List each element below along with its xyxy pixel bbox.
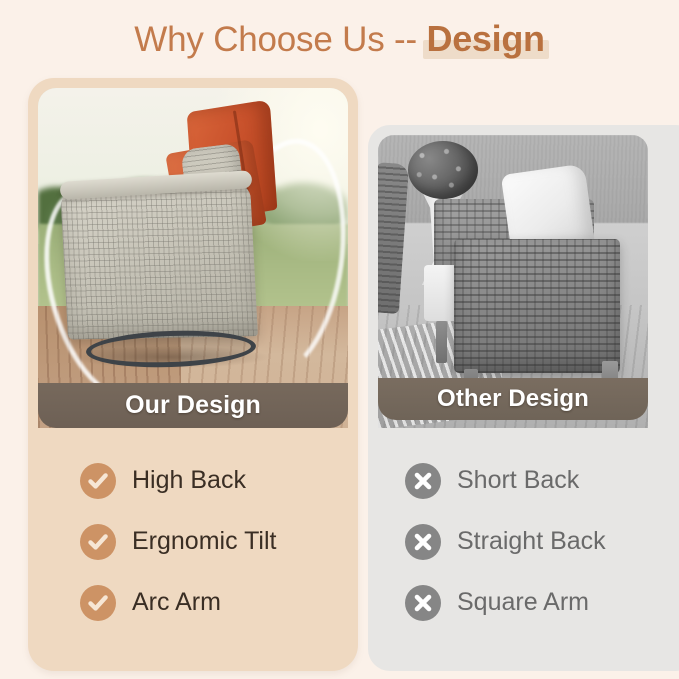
chair-leg-rear — [436, 321, 447, 363]
our-design-card: Our Design High Back Ergnomic Tilt — [28, 78, 358, 671]
cross-icon — [405, 463, 441, 499]
our-design-label: Our Design — [38, 383, 348, 428]
check-icon — [80, 585, 116, 621]
list-item: Square Arm — [368, 572, 679, 633]
list-item-label: Short Back — [457, 466, 579, 495]
check-icon — [80, 524, 116, 560]
list-item-label: Arc Arm — [132, 588, 221, 617]
other-design-label: Other Design — [378, 378, 648, 420]
list-item: Ergnomic Tilt — [28, 511, 358, 572]
cross-icon — [405, 524, 441, 560]
list-item-label: Ergnomic Tilt — [132, 527, 276, 556]
list-item: Straight Back — [368, 511, 679, 572]
list-item-label: Square Arm — [457, 588, 589, 617]
page-title: Why Choose Us -- Design — [0, 18, 679, 60]
our-design-feature-list: High Back Ergnomic Tilt Arc Arm — [28, 450, 358, 633]
list-item: Arc Arm — [28, 572, 358, 633]
square-chair-arm — [454, 239, 620, 373]
wicker-chair-body — [60, 182, 258, 339]
check-icon — [80, 463, 116, 499]
topiary-texture — [408, 141, 478, 199]
list-item-label: High Back — [132, 466, 246, 495]
page-title-plain: Why Choose Us -- — [134, 20, 426, 59]
our-design-photo — [38, 88, 348, 428]
list-item: Short Back — [368, 450, 679, 511]
other-design-feature-list: Short Back Straight Back Square Arm — [368, 450, 679, 633]
other-design-card: Other Design Short Back Straight Back — [368, 125, 679, 671]
page-title-accent: Design — [427, 18, 545, 59]
page-title-accent-wrap: Design — [427, 18, 545, 60]
list-item-label: Straight Back — [457, 527, 606, 556]
list-item: High Back — [28, 450, 358, 511]
cross-icon — [405, 585, 441, 621]
